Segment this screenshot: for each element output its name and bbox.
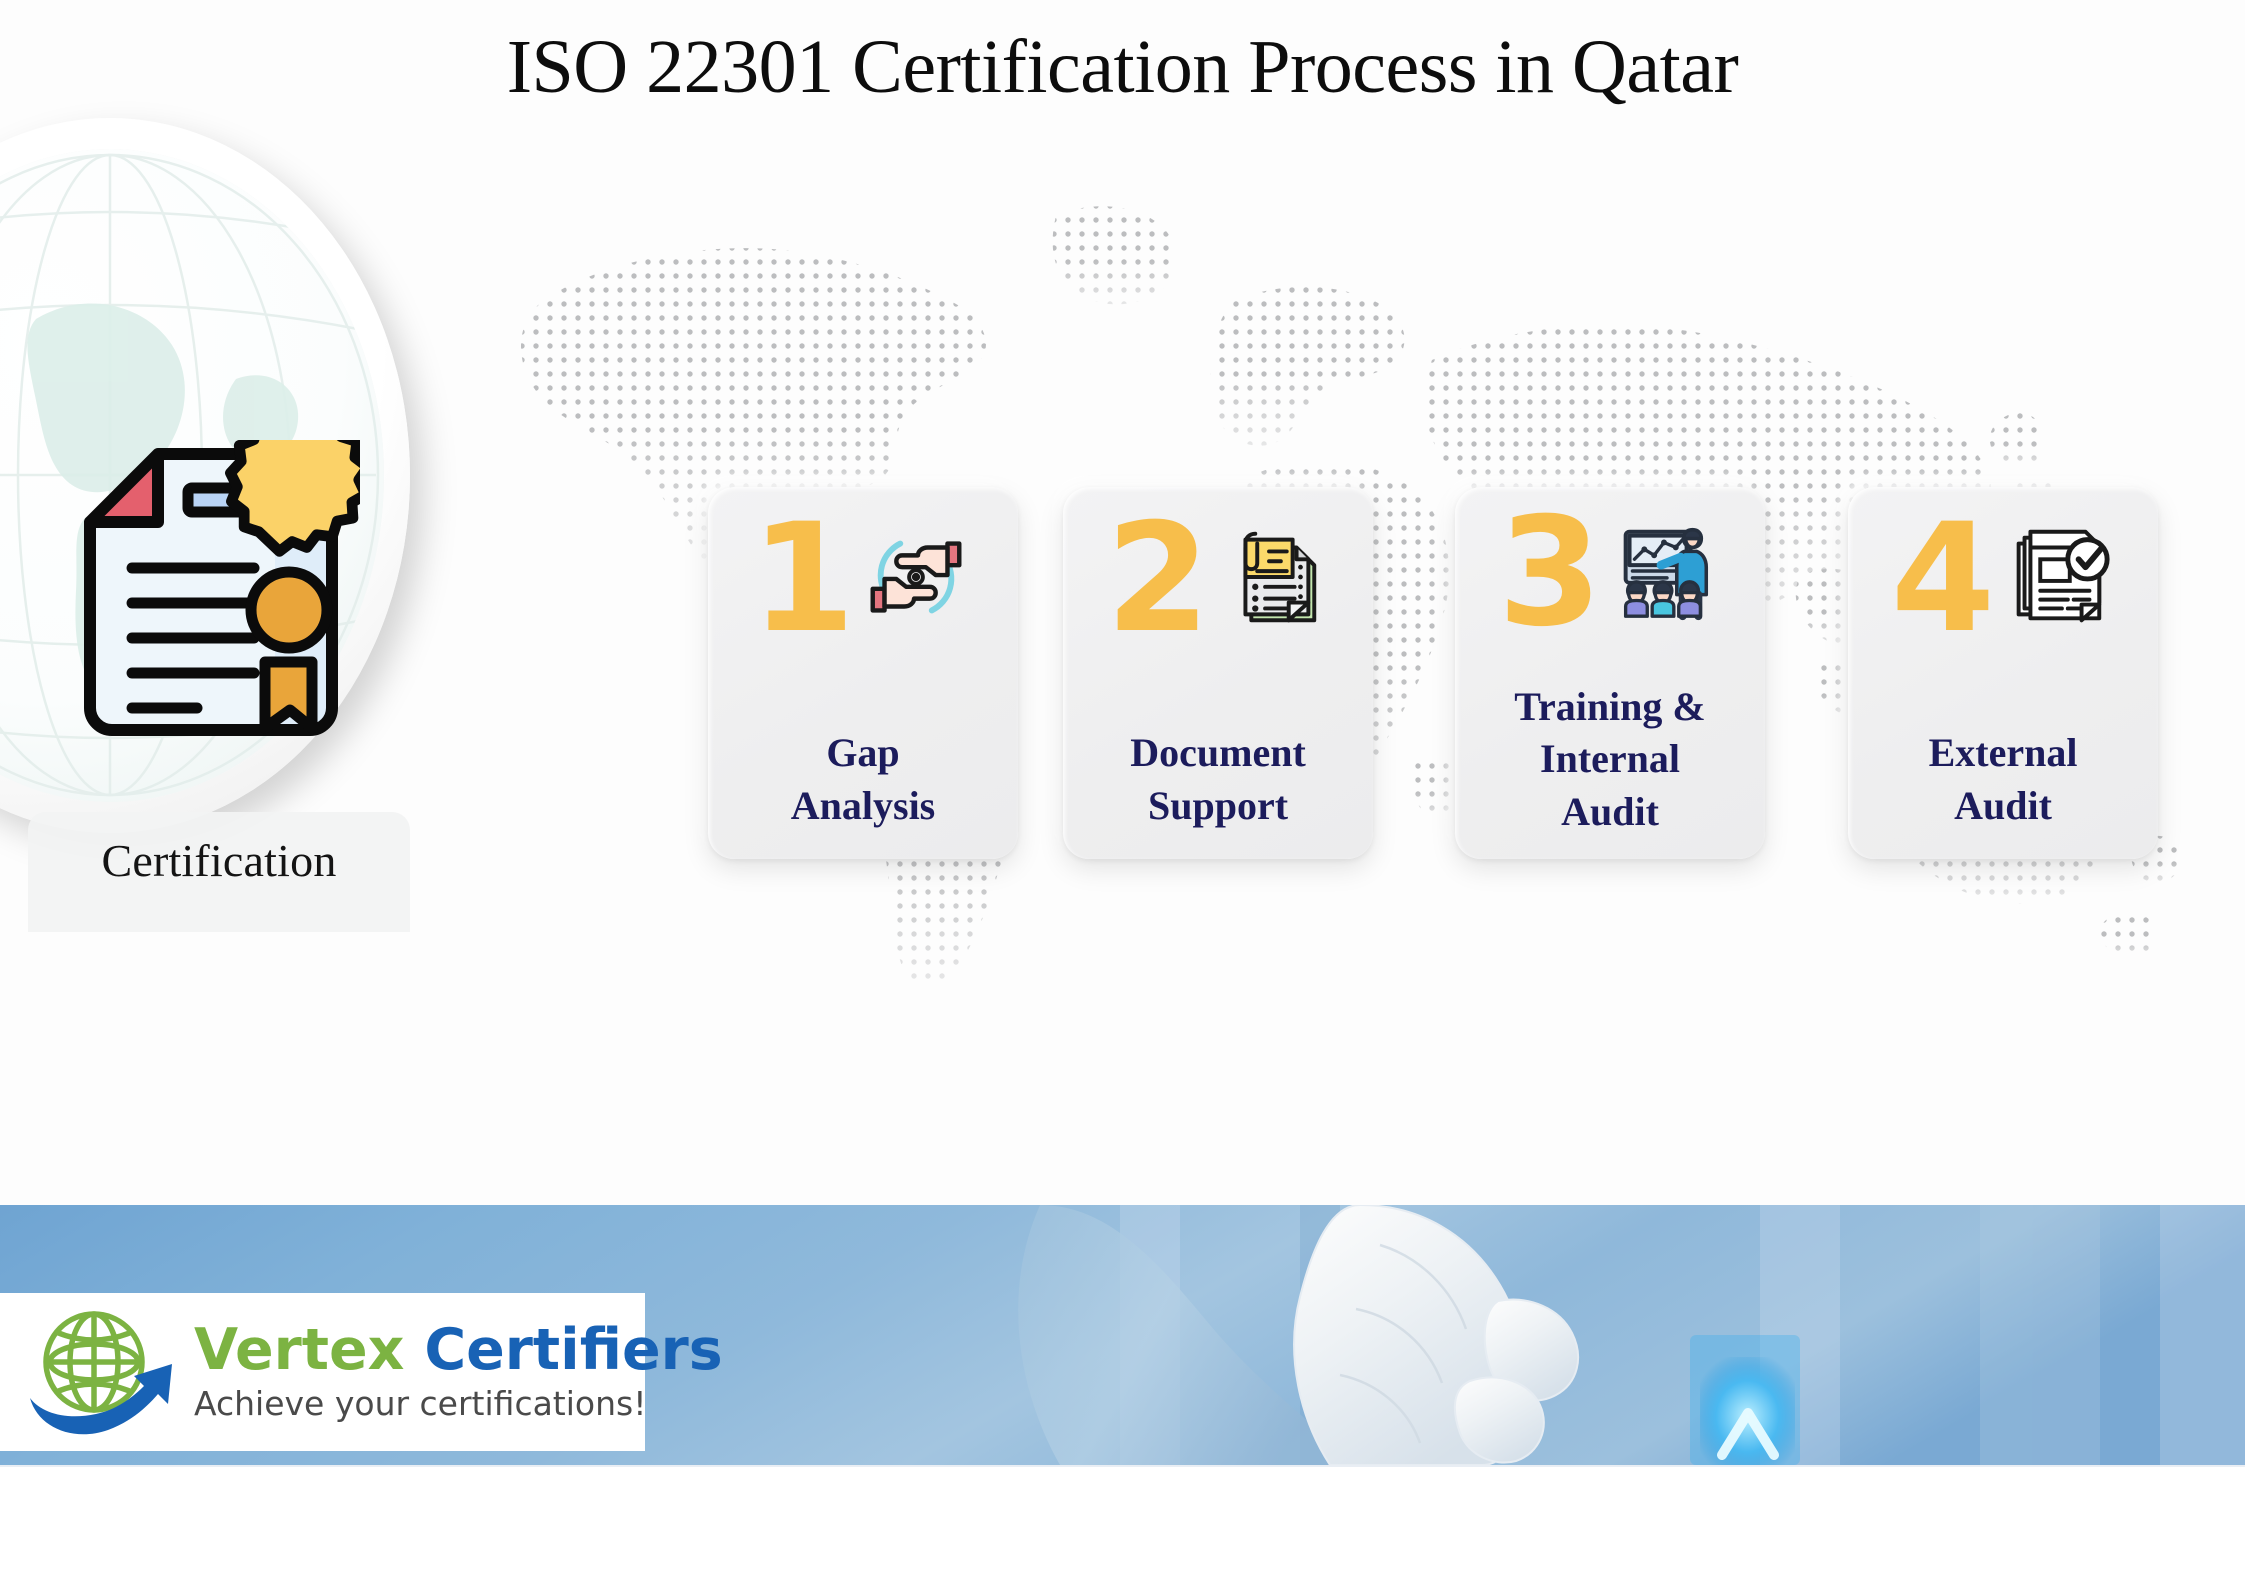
documents-paperclip-icon xyxy=(1212,518,1330,636)
step-3-head: 3 xyxy=(1455,491,1765,651)
step-2-head: 2 xyxy=(1063,497,1373,657)
step-3-label-line1: Training & xyxy=(1465,681,1755,734)
company-logo-card[interactable]: Vertex Certifiers Achieve your certifica… xyxy=(0,1293,645,1451)
step-2-number: 2 xyxy=(1106,504,1210,654)
step-1-number: 1 xyxy=(751,504,855,654)
logo-tagline: Achieve your certifications! xyxy=(194,1384,723,1423)
certificate-document-seal-icon xyxy=(60,440,360,750)
step-4-label: External Audit xyxy=(1858,727,2148,833)
globe-arrow-logo-icon xyxy=(16,1302,186,1442)
training-presentation-icon xyxy=(1604,512,1722,630)
step-1-head: 1 xyxy=(708,497,1018,657)
step-card-3[interactable]: 3 xyxy=(1455,487,1765,859)
step-1-label-line2: Analysis xyxy=(718,780,1008,833)
step-4-number: 4 xyxy=(1891,504,1995,654)
step-2-label-line1: Document xyxy=(1073,727,1363,780)
documents-checkmark-icon xyxy=(1997,518,2115,636)
footer-white-area xyxy=(0,1467,2245,1587)
logo-name-part1: Vertex xyxy=(194,1317,404,1383)
top-content-area: Certification ISO 22301 Certification Pr… xyxy=(0,0,2245,1205)
step-2-label: Document Support xyxy=(1073,727,1363,833)
step-3-label: Training & Internal Audit xyxy=(1465,681,1755,839)
infographic-stage: Certification ISO 22301 Certification Pr… xyxy=(0,0,2245,1587)
logo-text-block: Vertex Certifiers Achieve your certifica… xyxy=(194,1321,723,1423)
certification-badge-card: Certification xyxy=(28,812,410,932)
step-3-label-line3: Audit xyxy=(1465,786,1755,839)
step-4-label-line1: External xyxy=(1858,727,2148,780)
logo-name-part2: Certifiers xyxy=(424,1317,722,1383)
step-1-label: Gap Analysis xyxy=(718,727,1008,833)
step-3-number: 3 xyxy=(1498,498,1602,648)
handshake-collaboration-icon xyxy=(857,518,975,636)
step-card-1[interactable]: 1 xyxy=(708,487,1018,859)
step-4-head: 4 xyxy=(1848,497,2158,657)
step-3-label-line2: Internal xyxy=(1465,733,1755,786)
step-card-2[interactable]: 2 xyxy=(1063,487,1373,859)
step-card-4[interactable]: 4 xyxy=(1848,487,2158,859)
step-2-label-line2: Support xyxy=(1073,780,1363,833)
step-1-label-line1: Gap xyxy=(718,727,1008,780)
step-4-label-line2: Audit xyxy=(1858,780,2148,833)
logo-company-name: Vertex Certifiers xyxy=(194,1321,723,1379)
certification-badge-label: Certification xyxy=(101,838,336,906)
page-title: ISO 22301 Certification Process in Qatar xyxy=(0,24,2245,111)
